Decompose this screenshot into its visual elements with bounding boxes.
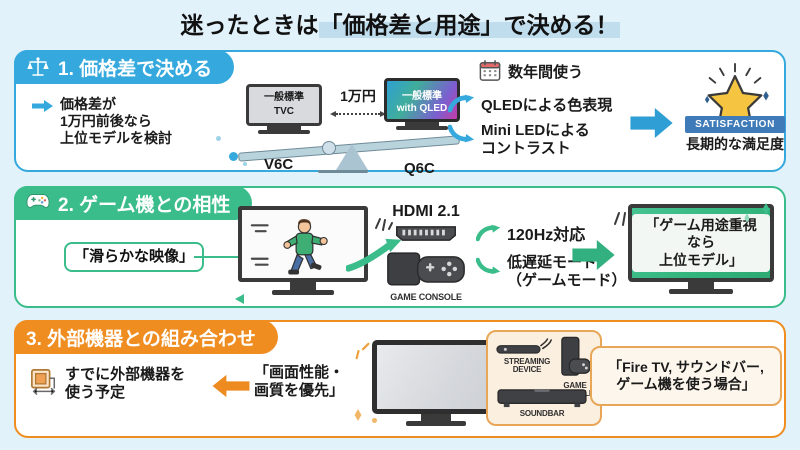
- arrow-right-icon: [32, 99, 54, 118]
- section-1-result: SATISFACTION 長期的な満足度: [682, 62, 788, 153]
- section-3-priority-line-1: 「画面性能・: [254, 364, 344, 382]
- soundbar-icon: [496, 388, 588, 409]
- external-devices-panel: STREAMING DEVICE GAME CONSOLE: [486, 330, 602, 426]
- balance-fulcrum: [336, 144, 368, 170]
- section-1-note-line-2: 1万円前後なら: [60, 113, 172, 130]
- balance-right-model-label: Q6C: [404, 160, 435, 178]
- section-2-callout-label: 「滑らかな映像」: [74, 248, 194, 265]
- curved-arrow-icon: [476, 224, 502, 247]
- page-title: 迷ったときは「価格差と用途」で決める！: [0, 6, 800, 40]
- section-2-spec-1: 120Hz対応: [476, 224, 585, 247]
- section-1-benefit-2-line-2: コントラスト: [481, 140, 590, 158]
- section-3-result-callout: 「Fire TV, サウンドバー, ゲーム機を使う場合」: [590, 346, 782, 406]
- balance-left-model-label: V6C: [264, 156, 293, 174]
- soundbar-label: SOUNDBAR: [496, 410, 588, 418]
- decor-diamond: [352, 408, 364, 426]
- decor-dot: [229, 152, 238, 161]
- section-3-priority-callout: 「画面性能・ 画質を優先」: [254, 364, 344, 401]
- section-1-benefit-2-line-1: Mini LEDによる: [481, 122, 590, 140]
- calendar-icon: [479, 60, 501, 87]
- section-1-benefit-2: Mini LEDによる コントラスト: [448, 122, 590, 159]
- hdmi-port-icon: [393, 224, 459, 243]
- section-card-1: 1. 価格差で決める 価格差が 1万円前後なら 上位モデルを検討: [14, 50, 786, 172]
- section-3-tv: [372, 340, 500, 426]
- tv-qled-label-1: 一般標準: [402, 87, 442, 102]
- section-2-callout: 「滑らかな映像」: [64, 242, 204, 272]
- section-3-note-line-1: すでに外部機器を: [65, 366, 185, 384]
- game-console-label: GAME CONSOLE: [374, 293, 478, 302]
- section-2-result-line-2: 上位モデル」: [639, 252, 763, 269]
- section-1-usage: 数年間使う: [479, 60, 583, 87]
- balance-pivot: [322, 141, 336, 155]
- decor-dot: [216, 136, 221, 141]
- tv-standard-label-2: TVC: [274, 106, 294, 118]
- section-3-result-line-1: 「Fire TV, サウンドバー,: [608, 359, 764, 376]
- section-1-note-line-3: 上位モデルを検討: [60, 130, 172, 147]
- tv-qled-label-2: with QLED: [397, 103, 448, 114]
- infographic-page: 迷ったときは「価格差と用途」で決める！ 1. 価格差で決める: [0, 0, 800, 450]
- external-device-icon: [30, 368, 58, 401]
- satisfaction-badge: SATISFACTION: [685, 116, 785, 133]
- streaming-device-label-2: DEVICE: [490, 366, 564, 374]
- curved-arrow-icon: [448, 124, 476, 148]
- decor-triangle: [234, 292, 246, 310]
- hdmi-port-label: HDMI 2.1: [374, 202, 478, 222]
- balance-base: [318, 170, 368, 173]
- section-1-usage-label: 数年間使う: [508, 64, 583, 82]
- decor-diamond: [742, 210, 752, 228]
- section-2-result-tv: 「ゲーム用途重視なら 上位モデル」: [628, 204, 774, 294]
- section-1-result-caption: 長期的な満足度: [682, 136, 788, 153]
- page-title-highlight: 「価格差と用途」で決める！: [319, 12, 620, 38]
- section-1-left-note: 価格差が 1万円前後なら 上位モデルを検討: [32, 96, 172, 147]
- section-3-left-note: すでに外部機器を 使う予定: [30, 366, 185, 403]
- page-title-lead: 迷ったときは: [181, 12, 319, 38]
- section-3-note-line-2: 使う予定: [65, 384, 185, 402]
- result-sparkle-icon: [610, 204, 632, 228]
- tv-standard-label-1: 一般標準: [264, 92, 304, 104]
- section-1-result-arrow-icon: [630, 108, 674, 143]
- streaming-device-icon: [496, 338, 554, 357]
- decor-spark-icon: [354, 340, 372, 362]
- section-1-benefit-1-label: QLEDによる色表現: [481, 97, 612, 115]
- section-3-priority-line-2: 画質を優先」: [254, 382, 344, 400]
- curved-arrow-icon: [448, 94, 476, 118]
- section-card-2: 2. ゲーム機との相性 「滑らかな映像」: [14, 186, 786, 308]
- curved-arrow-icon: [476, 257, 502, 280]
- game-console-vertical-icon: [560, 336, 592, 384]
- price-gap-label: 1万円: [330, 88, 386, 105]
- price-balance-scale: 一般標準 TVC 1万円: [244, 84, 459, 170]
- section-3-result-line-2: ゲーム機を使う場合」: [616, 376, 756, 393]
- tv-standard: 一般標準 TVC: [246, 84, 322, 134]
- section-1-note-line-1: 価格差が: [60, 96, 172, 113]
- section-1-benefit-1: QLEDによる色表現: [448, 94, 612, 118]
- game-console-icon: [386, 249, 466, 287]
- price-gap: 1万円: [330, 88, 386, 119]
- section-3-arrow-to-note-icon: [212, 374, 250, 403]
- decor-diamond: [760, 202, 772, 220]
- section-2-spec-2-line-2: （ゲームモード）: [507, 272, 627, 290]
- section-2-device-group: HDMI 2.1: [374, 202, 478, 302]
- section-card-3: 3. 外部機器との組み合わせ すでに外部機: [14, 320, 786, 438]
- section-2-result-arrow-icon: [572, 240, 616, 275]
- satisfaction-badge-label: SATISFACTION: [695, 119, 775, 130]
